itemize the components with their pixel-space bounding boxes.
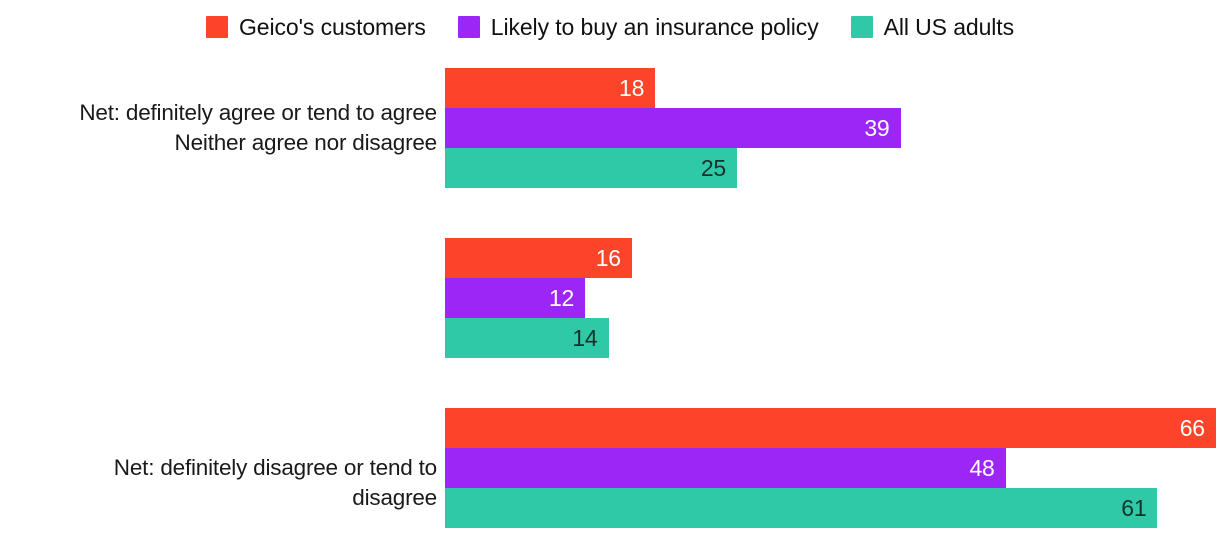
bar-g2-s1[interactable]: 48 [445, 448, 1006, 488]
bar-group-2-bars: 66 48 61 [445, 408, 1220, 528]
category-label-1: Neither agree nor disagree [0, 128, 437, 158]
bar-g0-s1[interactable]: 39 [445, 108, 901, 148]
bar-g0-s0[interactable]: 18 [445, 68, 655, 108]
bar-value-label: 18 [619, 77, 655, 100]
bar-g0-s2[interactable]: 25 [445, 148, 737, 188]
bar-row: 39 [445, 108, 1220, 148]
bar-g1-s2[interactable]: 14 [445, 318, 609, 358]
bar-value-label: 39 [864, 117, 900, 140]
bar-value-label: 48 [969, 457, 1005, 480]
legend-swatch-geicos-customers [206, 16, 228, 38]
legend-item-2[interactable]: All US adults [851, 16, 1014, 39]
bar-row: 66 [445, 408, 1220, 448]
legend-item-0[interactable]: Geico's customers [206, 16, 426, 39]
category-label-0: Net: definitely agree or tend to agree [0, 98, 437, 128]
chart-plot-area: Net: definitely agree or tend to agree 1… [0, 54, 1220, 540]
bar-value-label: 66 [1180, 417, 1216, 440]
bar-row: 12 [445, 278, 1220, 318]
bar-row: 16 [445, 238, 1220, 278]
legend-label-2: All US adults [884, 16, 1014, 39]
legend-swatch-likely-to-buy [458, 16, 480, 38]
bar-row: 61 [445, 488, 1220, 528]
bar-value-label: 61 [1121, 497, 1157, 520]
legend-label-0: Geico's customers [239, 16, 426, 39]
legend-swatch-all-us-adults [851, 16, 873, 38]
bar-value-label: 12 [549, 287, 585, 310]
bar-group-2: Net: definitely disagree or tend to disa… [0, 408, 1220, 528]
category-label-2: Net: definitely disagree or tend to disa… [0, 453, 437, 513]
bar-g2-s0[interactable]: 66 [445, 408, 1216, 448]
bar-row: 48 [445, 448, 1220, 488]
bar-group-0-bars: 18 39 25 [445, 68, 1220, 188]
bar-row: 25 [445, 148, 1220, 188]
bar-value-label: 14 [572, 327, 608, 350]
bar-g2-s2[interactable]: 61 [445, 488, 1157, 528]
bar-g1-s0[interactable]: 16 [445, 238, 632, 278]
bar-value-label: 25 [701, 157, 737, 180]
legend-label-1: Likely to buy an insurance policy [491, 16, 819, 39]
bar-group-1: Neither agree nor disagree 16 12 14 [0, 238, 1220, 358]
chart-legend: Geico's customers Likely to buy an insur… [0, 0, 1220, 54]
bar-value-label: 16 [596, 247, 632, 270]
bar-row: 14 [445, 318, 1220, 358]
legend-item-1[interactable]: Likely to buy an insurance policy [458, 16, 819, 39]
bar-group-1-bars: 16 12 14 [445, 238, 1220, 358]
bar-g1-s1[interactable]: 12 [445, 278, 585, 318]
bar-row: 18 [445, 68, 1220, 108]
